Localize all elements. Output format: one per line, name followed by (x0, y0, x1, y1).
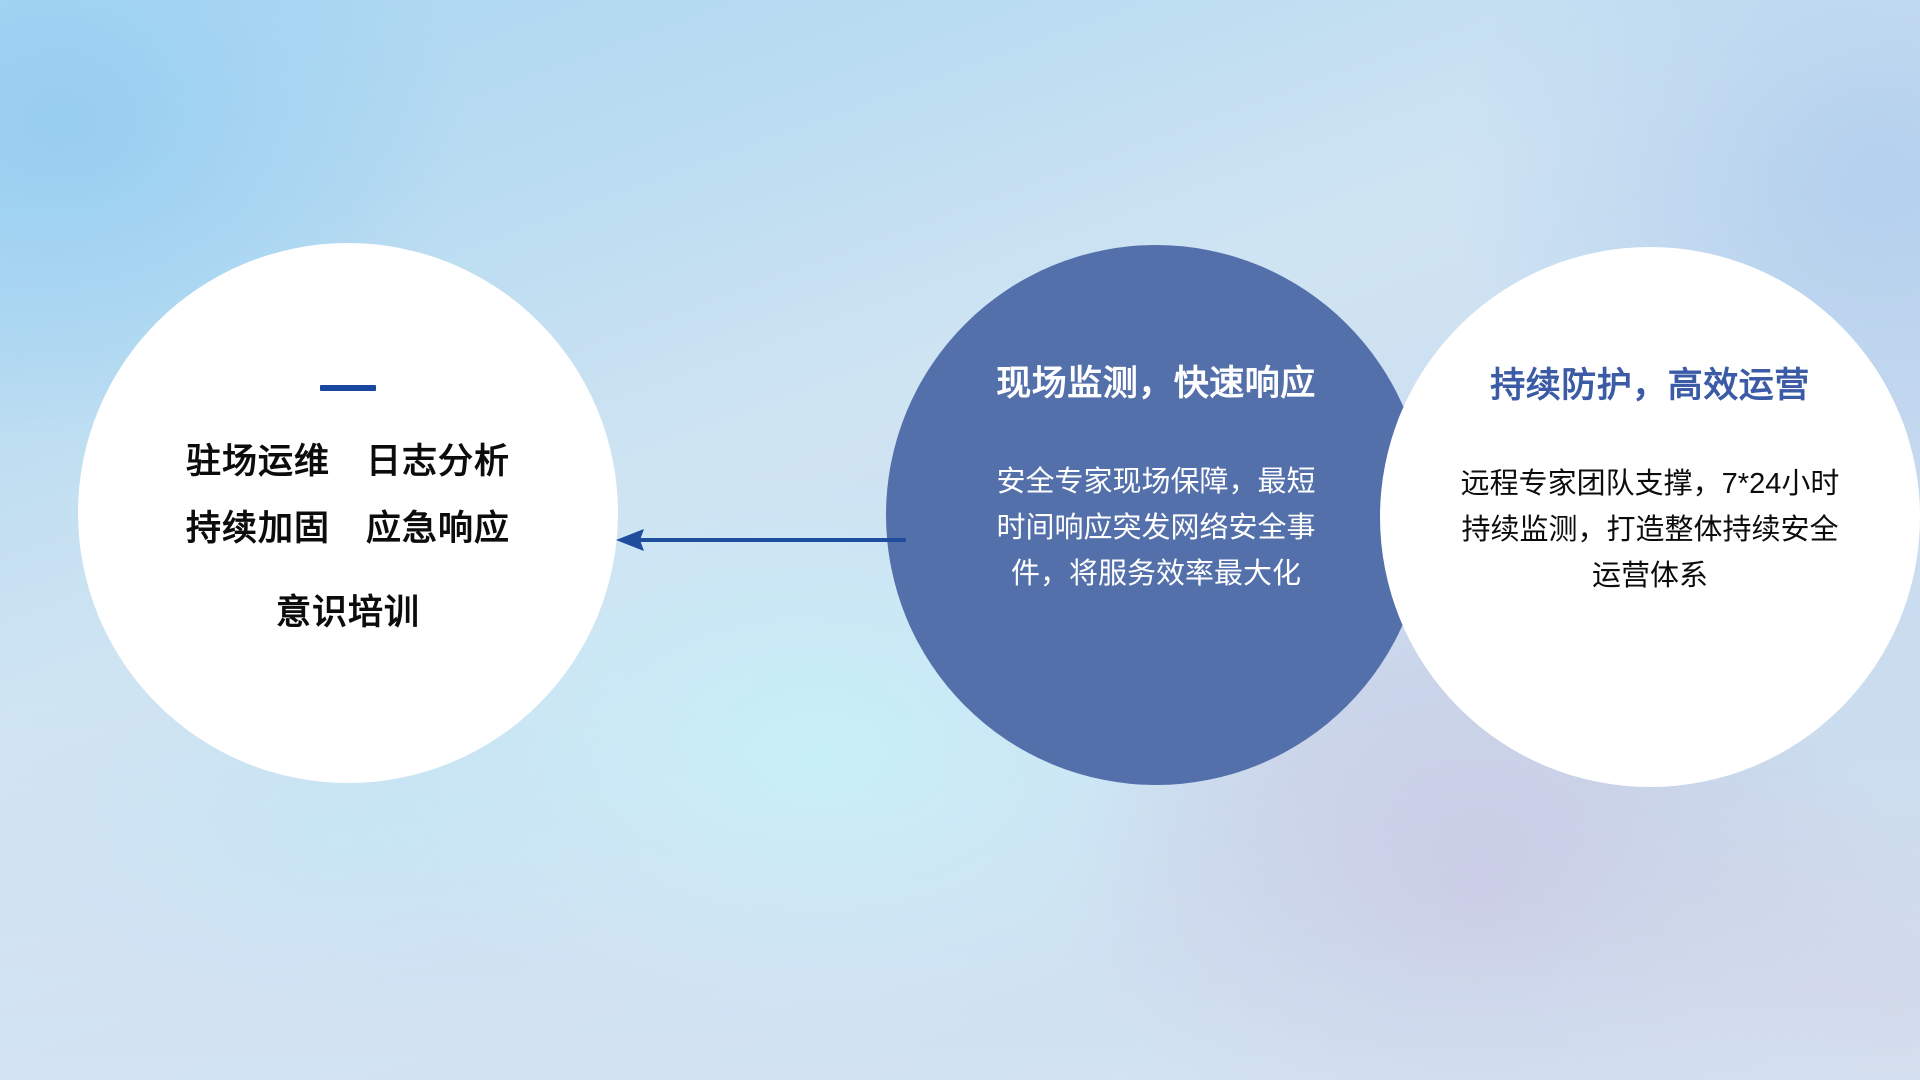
capability-item: 应急响应 (366, 510, 510, 549)
capability-item: 日志分析 (366, 443, 510, 482)
capability-list: 驻场运维 日志分析 持续加固 应急响应 意识培训 (78, 443, 618, 635)
left-circle-content: 驻场运维 日志分析 持续加固 应急响应 意识培训 (78, 243, 618, 783)
capability-item: 意识培训 (276, 584, 420, 635)
capability-row: 持续加固 应急响应 (186, 510, 510, 549)
slide-canvas: 驻场运维 日志分析 持续加固 应急响应 意识培训 现场监测，快速响应 安全专家现… (0, 0, 1920, 1080)
right-circle-body: 远程专家团队支撑，7*24小时持续监测，打造整体持续安全运营体系 (1450, 462, 1850, 599)
capability-item: 持续加固 (186, 510, 330, 549)
right-circle-content: 持续防护，高效运营 远程专家团队支撑，7*24小时持续监测，打造整体持续安全运营… (1380, 247, 1920, 787)
right-circle-title: 持续防护，高效运营 (1490, 357, 1810, 408)
middle-circle-title: 现场监测，快速响应 (996, 355, 1316, 406)
accent-dash-icon (320, 385, 376, 391)
capability-row: 驻场运维 日志分析 (186, 443, 510, 482)
capability-item: 驻场运维 (186, 443, 330, 482)
middle-circle-content: 现场监测，快速响应 安全专家现场保障，最短时间响应突发网络安全事件，将服务效率最… (886, 245, 1426, 785)
middle-circle-body: 安全专家现场保障，最短时间响应突发网络安全事件，将服务效率最大化 (991, 460, 1321, 597)
flow-arrow-left-icon (610, 520, 910, 560)
